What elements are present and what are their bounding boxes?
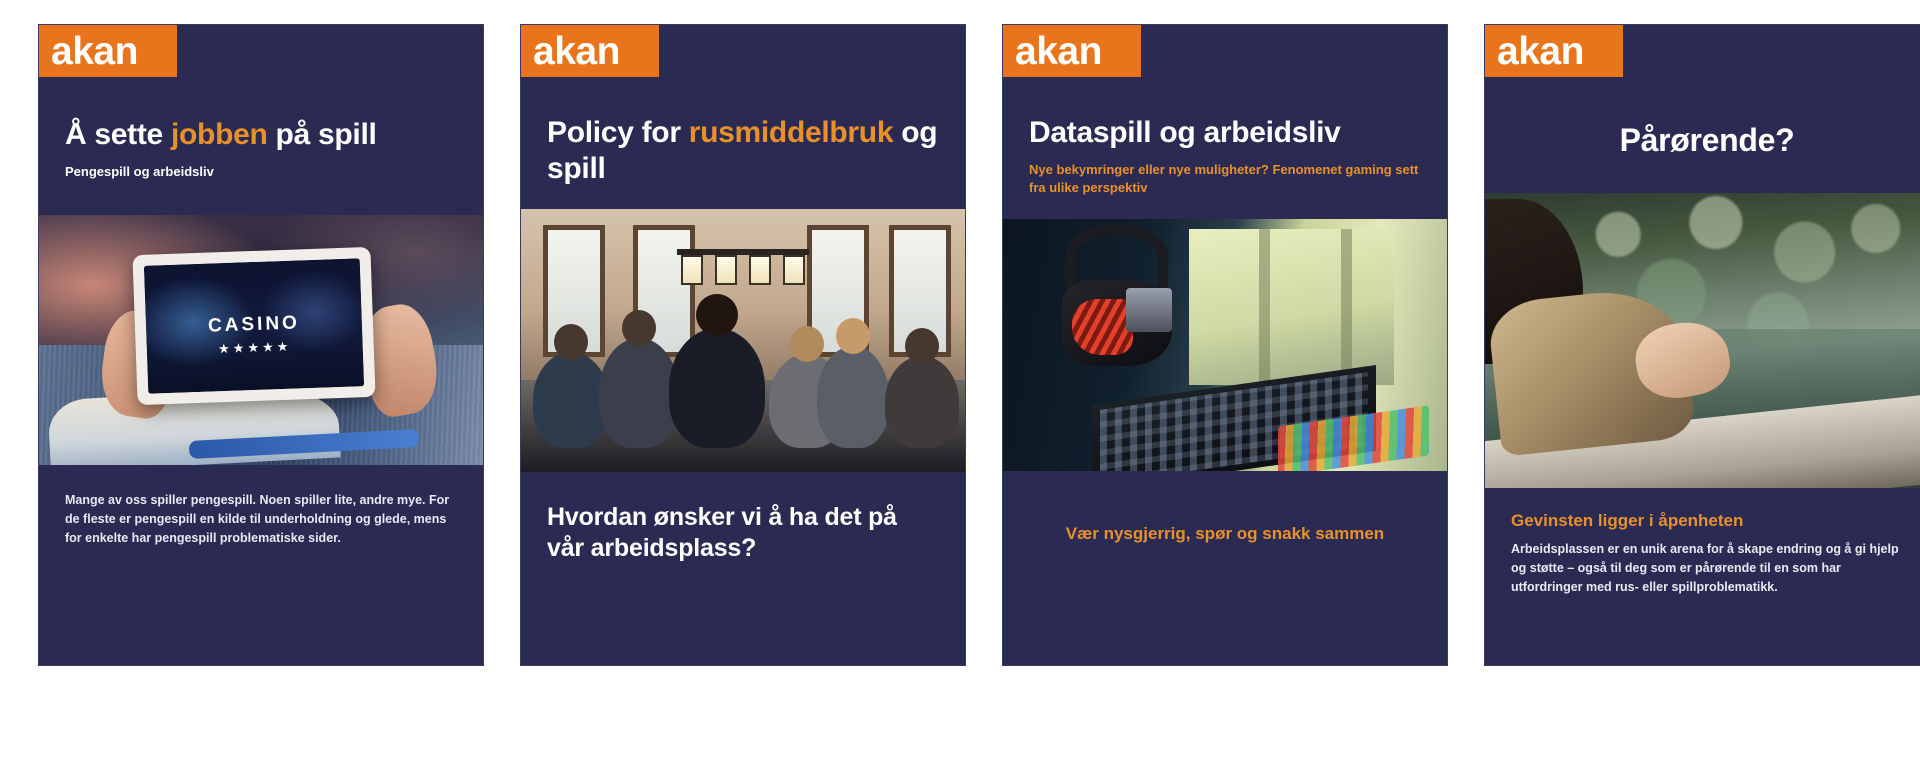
card-footer: Gevinsten ligger i åpenheten Arbeidsplas… xyxy=(1485,488,1920,665)
card-header: Dataspill og arbeidsliv Nye bekymringer … xyxy=(1003,77,1447,196)
person-head xyxy=(554,324,588,360)
card-image-gamer xyxy=(1003,219,1447,471)
casino-stars: ★★★★★ xyxy=(147,336,363,360)
akan-logo: akan xyxy=(39,25,177,77)
card-subtitle: Nye bekymringer eller nye muligheter? Fe… xyxy=(1029,161,1421,196)
lamp-bulb xyxy=(749,255,771,285)
pendant-lamp xyxy=(677,209,809,283)
card-parorende[interactable]: akan Pårørende? Gevinsten ligger i åpenh… xyxy=(1484,24,1920,666)
card-body-text: Arbeidsplassen er en unik arena for å sk… xyxy=(1511,540,1903,598)
card-footer: Mange av oss spiller pengespill. Noen sp… xyxy=(39,465,483,665)
person-silhouette xyxy=(533,352,609,448)
card-header: Å sette jobben på spill Pengespill og ar… xyxy=(39,77,483,181)
card-image-casino-tablet: CASINO ★★★★★ xyxy=(39,215,483,465)
monitor-bar xyxy=(1259,229,1270,385)
card-footer: Hvordan ønsker vi å ha det på vår arbeid… xyxy=(521,472,965,665)
akan-logo: akan xyxy=(1003,25,1141,77)
headset-chip xyxy=(1126,288,1172,333)
lamp-bulb xyxy=(715,255,737,285)
card-title: Pårørende? xyxy=(1511,121,1903,159)
person-silhouette xyxy=(885,356,959,448)
title-before: Å sette xyxy=(65,118,171,151)
title-before: Policy for xyxy=(547,116,689,149)
person-head xyxy=(696,294,738,336)
photo-gaming-scene xyxy=(1003,219,1447,471)
title-highlight: rusmiddelbruk xyxy=(689,116,893,149)
card-image-lake xyxy=(1485,193,1920,488)
card-footer-tagline: Vær nysgjerrig, spør og snakk sammen xyxy=(1029,523,1421,545)
card-policy[interactable]: akan Policy for rusmiddelbruk og spill xyxy=(520,24,966,666)
akan-logo: akan xyxy=(1485,25,1623,77)
card-title: Policy for rusmiddelbruk og spill xyxy=(547,115,939,187)
photo-lake-scene xyxy=(1485,193,1920,488)
slide-board: akan Å sette jobben på spill Pengespill … xyxy=(0,0,1920,767)
title-highlight: jobben xyxy=(171,118,268,151)
card-header: Pårørende? xyxy=(1485,77,1920,159)
card-image-office-meeting xyxy=(521,209,965,472)
akan-logo-text: akan xyxy=(1497,32,1584,71)
akan-logo-text: akan xyxy=(1015,32,1102,71)
person-silhouette xyxy=(669,328,765,448)
card-subtitle: Pengespill og arbeidsliv xyxy=(65,163,457,181)
person-silhouette xyxy=(817,346,889,448)
akan-logo-text: akan xyxy=(533,32,620,71)
person-silhouette xyxy=(599,338,679,448)
tablet-screen: CASINO ★★★★★ xyxy=(144,258,364,393)
person-head xyxy=(790,326,824,362)
headset-band xyxy=(1065,224,1168,287)
card-footer: Vær nysgjerrig, spør og snakk sammen xyxy=(1003,471,1447,665)
headset-red-accent xyxy=(1072,299,1132,355)
card-pengespill[interactable]: akan Å sette jobben på spill Pengespill … xyxy=(38,24,484,666)
person-head xyxy=(905,328,939,364)
card-title: Å sette jobben på spill xyxy=(65,117,457,153)
card-dataspill[interactable]: akan Dataspill og arbeidsliv Nye bekymri… xyxy=(1002,24,1448,666)
lamp-bulb xyxy=(681,255,703,285)
card-body-text: Mange av oss spiller pengespill. Noen sp… xyxy=(65,491,457,549)
card-title: Dataspill og arbeidsliv xyxy=(1029,115,1421,151)
card-header: Policy for rusmiddelbruk og spill xyxy=(521,77,965,187)
photo-casino-scene: CASINO ★★★★★ xyxy=(39,215,483,465)
person-head xyxy=(836,318,870,354)
monitor xyxy=(1189,229,1393,385)
title-after: på spill xyxy=(268,118,377,151)
person-head xyxy=(622,310,656,346)
casino-label: CASINO xyxy=(146,310,363,340)
monitor-bar xyxy=(1341,229,1352,385)
gaming-headset xyxy=(1030,224,1208,410)
akan-logo-text: akan xyxy=(51,32,138,71)
lamp-bulb xyxy=(783,255,805,285)
card-footer-heading: Gevinsten ligger i åpenheten xyxy=(1511,510,1903,531)
akan-logo: akan xyxy=(521,25,659,77)
card-row: akan Å sette jobben på spill Pengespill … xyxy=(0,24,1920,666)
photo-office-scene xyxy=(521,209,965,472)
card-footer-question: Hvordan ønsker vi å ha det på vår arbeid… xyxy=(547,502,939,565)
tablet-device: CASINO ★★★★★ xyxy=(132,246,375,404)
